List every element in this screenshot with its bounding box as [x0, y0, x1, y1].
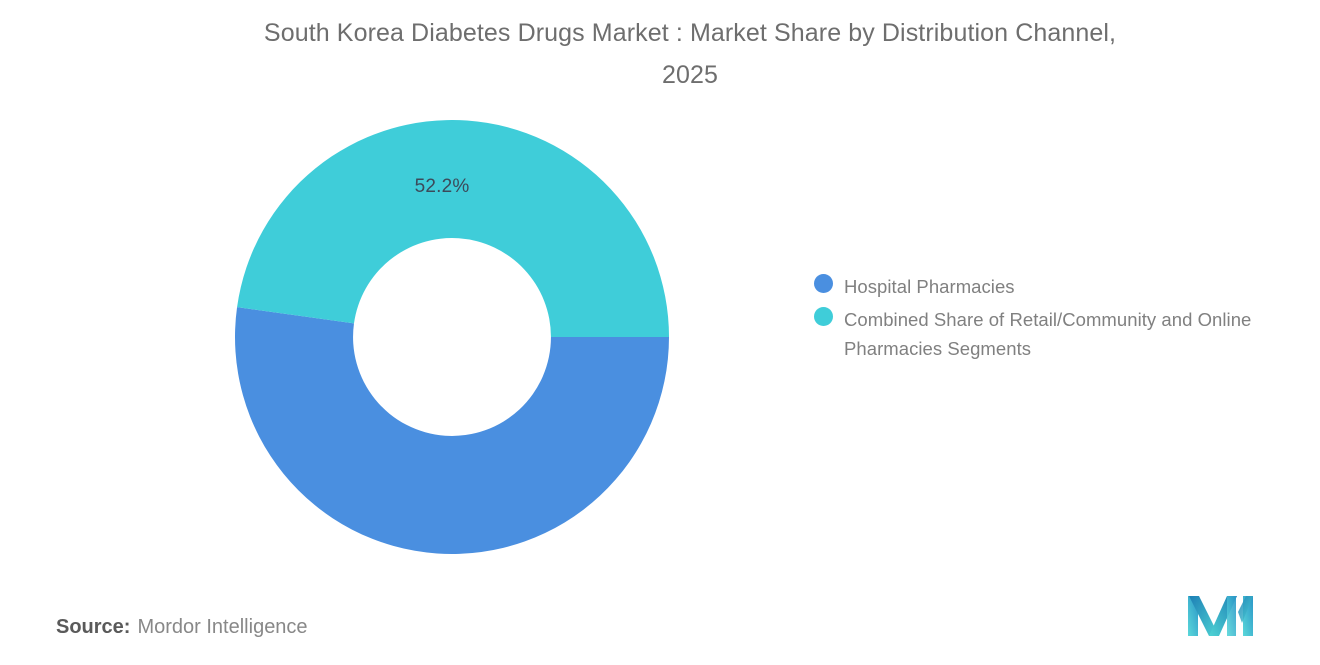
legend-item-label: Combined Share of Retail/Community and O…: [844, 305, 1284, 363]
mordor-intelligence-logo: [1186, 592, 1256, 638]
legend-item-label: Hospital Pharmacies: [844, 272, 1015, 301]
source-value: Mordor Intelligence: [137, 616, 307, 638]
source-label: Source:: [56, 616, 130, 638]
donut-slice-label-hospital-pharmacies: 52.2%: [382, 176, 502, 198]
page-title: South Korea Diabetes Drugs Market : Mark…: [160, 12, 1220, 96]
chart-legend: Hospital Pharmacies Combined Share of Re…: [814, 272, 1284, 367]
donut-slice-hospital-pharmacies[interactable]: [235, 307, 669, 554]
source-attribution: Source:Mordor Intelligence: [56, 612, 308, 642]
legend-item-retail-online-pharmacies[interactable]: Combined Share of Retail/Community and O…: [814, 305, 1284, 363]
page-title-line-1: South Korea Diabetes Drugs Market : Mark…: [160, 12, 1220, 54]
donut-slice-retail-online-pharmacies[interactable]: [237, 120, 669, 337]
legend-dot-icon: [814, 307, 833, 326]
legend-dot-icon: [814, 274, 833, 293]
page-title-line-2: 2025: [160, 54, 1220, 96]
legend-item-hospital-pharmacies[interactable]: Hospital Pharmacies: [814, 272, 1284, 301]
